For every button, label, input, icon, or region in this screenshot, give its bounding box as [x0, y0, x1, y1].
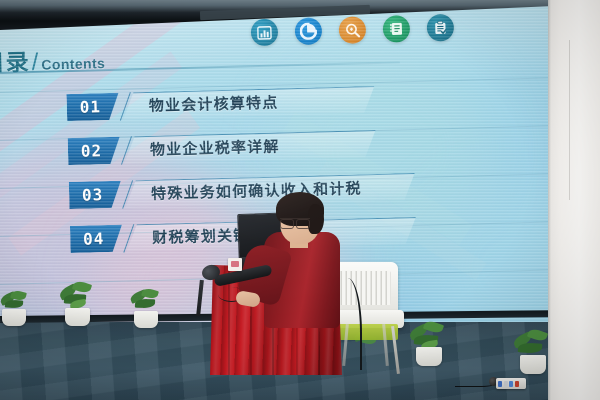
list-item-label: 物业企业税率详解 — [150, 136, 280, 160]
list-item-label: 财税筹划关键 — [152, 224, 250, 248]
pie-chart-icon — [295, 17, 323, 45]
plant-pot — [2, 309, 26, 326]
potted-plant — [132, 288, 160, 328]
glasses-icon — [280, 218, 310, 227]
zoom-in-icon — [339, 16, 367, 44]
potted-plant — [516, 330, 548, 374]
potted-plant — [2, 290, 28, 326]
plant-pot — [416, 347, 442, 366]
list-item-number: 04 — [83, 229, 105, 249]
slide-icon-strip — [251, 14, 455, 46]
plant-pot — [65, 308, 90, 326]
potted-plant — [412, 322, 444, 366]
plant-pot — [520, 355, 546, 374]
list-item-number: 01 — [79, 97, 101, 117]
list-item-number: 02 — [81, 141, 103, 161]
potted-plant — [62, 282, 92, 326]
clipboard-check-icon — [427, 14, 455, 42]
side-wall — [548, 0, 600, 400]
paper-card — [228, 258, 242, 271]
bar-chart-icon — [251, 19, 279, 47]
list-item-number: 03 — [82, 185, 104, 205]
notebook-icon — [383, 15, 411, 43]
screenshot-root: 目录 / Contents — [0, 0, 600, 400]
presenter-hair-side — [308, 204, 324, 234]
floor-device — [496, 378, 526, 389]
slide-title-separator: / — [31, 49, 38, 77]
wall-seam — [569, 40, 570, 200]
list-item-label: 物业会计核算特点 — [149, 92, 279, 116]
plant-pot — [134, 311, 158, 328]
